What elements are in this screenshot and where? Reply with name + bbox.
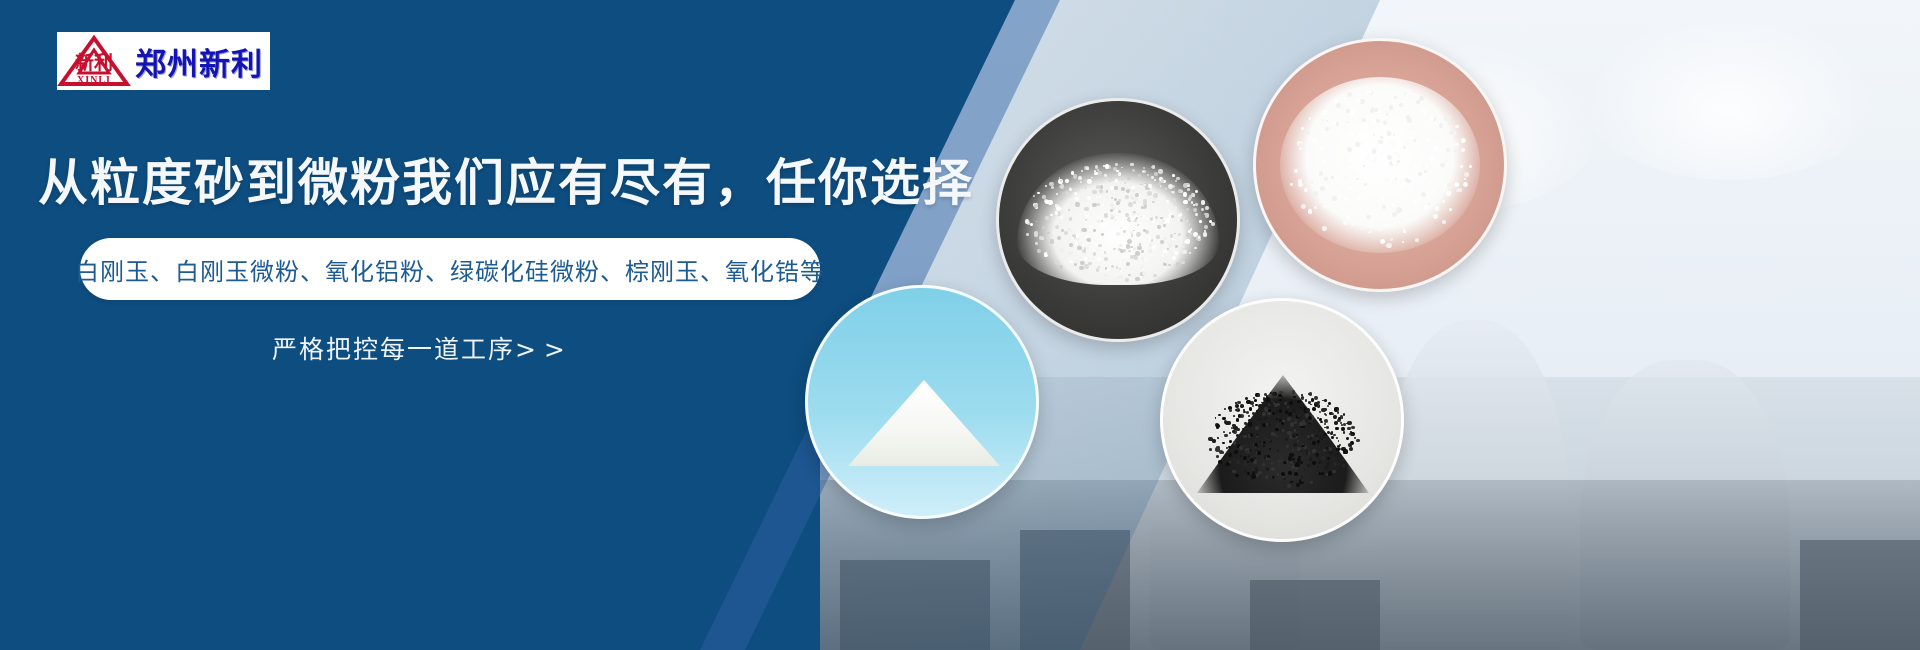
grit-speckle: [1118, 275, 1122, 279]
product-list-text: 白刚玉、白刚玉微粉、氧化铝粉、绿碳化硅微粉、棕刚玉、氧化锆等: [75, 252, 825, 287]
grit-speckle: [1098, 244, 1101, 247]
grit-speckle: [1338, 440, 1340, 442]
grit-speckle: [1376, 203, 1379, 206]
grit-speckle: [1312, 407, 1316, 411]
grit-speckle: [1115, 173, 1118, 176]
grit-speckle: [1123, 249, 1126, 252]
grit-speckle: [1217, 437, 1219, 439]
grit-speckle: [1209, 448, 1212, 451]
grit-speckle: [1121, 221, 1125, 225]
grit-speckle: [1347, 147, 1352, 152]
grit-speckle: [1114, 186, 1118, 190]
grit-speckle: [1377, 88, 1381, 92]
grit-speckle: [1309, 117, 1311, 119]
grit-speckle: [1047, 232, 1049, 234]
grit-speckle: [1327, 457, 1330, 460]
grit-speckle: [1189, 195, 1193, 199]
grit-speckle: [1299, 422, 1303, 426]
grit-speckle: [1258, 459, 1260, 461]
grit-speckle: [1323, 449, 1326, 452]
grit-speckle: [1060, 216, 1063, 219]
grit-speckle: [1351, 222, 1355, 226]
grit-speckle: [1406, 115, 1411, 120]
grit-speckle: [1144, 184, 1146, 186]
grit-speckle: [1446, 191, 1451, 196]
grit-speckle: [1309, 437, 1312, 440]
grit-speckle: [1068, 251, 1072, 255]
grit-speckle: [1400, 182, 1402, 184]
grit-speckle: [1328, 471, 1332, 475]
grit-speckle: [1204, 230, 1206, 232]
grit-speckle: [1324, 466, 1328, 470]
grit-speckle: [1351, 426, 1355, 430]
grit-speckle: [1059, 248, 1063, 252]
grit-speckle: [1455, 125, 1458, 128]
grit-speckle: [1326, 120, 1328, 122]
company-logo[interactable]: 新利 XINLI 郑州新利: [57, 32, 270, 90]
grit-speckle: [1455, 142, 1459, 146]
grit-speckle: [1316, 435, 1318, 437]
grit-speckle: [1302, 408, 1304, 410]
product-photo-micro-powder: [1253, 38, 1507, 292]
grit-speckle: [1331, 436, 1335, 440]
grit-speckle: [1084, 264, 1089, 269]
grit-speckle: [1364, 183, 1367, 186]
grit-speckle: [1154, 245, 1156, 247]
grit-speckle: [1320, 421, 1323, 424]
grit-speckle: [1248, 415, 1250, 417]
grit-speckle: [1158, 169, 1163, 174]
grit-speckle: [1302, 445, 1305, 448]
product-photo-black-sic: [1160, 298, 1404, 542]
grit-speckle: [1191, 201, 1193, 203]
grit-speckle: [1398, 171, 1400, 173]
grit-speckle: [1154, 179, 1156, 181]
grit-speckle: [1203, 232, 1207, 236]
grit-speckle: [1234, 450, 1238, 454]
grit-speckle: [1135, 251, 1140, 256]
grit-speckle: [1140, 216, 1142, 218]
grit-speckle: [1042, 226, 1044, 228]
grit-speckle: [1198, 236, 1200, 238]
grit-speckle: [1157, 225, 1161, 229]
grit-speckle: [1309, 392, 1312, 395]
grit-speckle: [1365, 124, 1368, 127]
grit-speckle: [1080, 261, 1084, 265]
grit-speckle: [1428, 203, 1430, 205]
grit-speckle: [1326, 462, 1330, 466]
grit-speckle: [1175, 245, 1178, 248]
grit-speckle: [1347, 92, 1352, 97]
grit-speckle: [1343, 220, 1348, 225]
grit-speckle: [1424, 188, 1428, 192]
grit-speckle: [1101, 220, 1103, 222]
grit-speckle: [1292, 390, 1296, 394]
grit-speckle: [1392, 87, 1396, 91]
grit-speckle: [1228, 446, 1230, 448]
grit-speckle: [1461, 138, 1466, 143]
grit-speckle: [1311, 181, 1313, 183]
grit-speckle: [1072, 237, 1074, 239]
grit-speckle: [1412, 191, 1415, 194]
grit-speckle: [1246, 400, 1250, 404]
grit-speckle: [1387, 155, 1392, 160]
grit-speckle: [1135, 277, 1139, 281]
grit-speckle: [1349, 433, 1351, 435]
product-photo-alumina: [805, 285, 1039, 519]
grit-speckle: [1395, 152, 1398, 155]
grit-speckle: [1347, 202, 1350, 205]
building: [1250, 580, 1380, 650]
grit-speckle: [1356, 98, 1359, 101]
grit-speckle: [1097, 249, 1099, 251]
grit-speckle: [1336, 122, 1340, 126]
grit-speckle: [1087, 179, 1092, 184]
grit-speckle: [1452, 140, 1454, 142]
grit-speckle: [1392, 160, 1397, 165]
grit-speckle: [1097, 171, 1102, 176]
grit-speckle: [1076, 234, 1079, 237]
grit-speckle: [1355, 142, 1360, 147]
grit-speckle: [1322, 456, 1326, 460]
grit-speckle: [1337, 411, 1340, 414]
grit-speckle: [1172, 238, 1174, 240]
grit-speckle: [1216, 455, 1219, 458]
grit-speckle: [1088, 262, 1091, 265]
grit-speckle: [1361, 133, 1363, 135]
grit-speckle: [1433, 214, 1438, 219]
grit-speckle: [1367, 229, 1369, 231]
grit-speckle: [1186, 233, 1190, 237]
grit-speckle: [1271, 400, 1273, 402]
grit-speckle: [1093, 229, 1095, 231]
grit-speckle: [1294, 169, 1298, 173]
grit-speckle: [1271, 462, 1274, 465]
grit-speckle: [1047, 250, 1051, 254]
grit-speckle: [1317, 401, 1320, 404]
grit-speckle: [1259, 441, 1261, 443]
grit-speckle: [1271, 481, 1274, 484]
grit-speckle: [1319, 171, 1324, 176]
grit-speckle: [1396, 207, 1401, 212]
grit-speckle: [1276, 432, 1279, 435]
grit-speckle: [1311, 398, 1315, 402]
grit-speckle: [1101, 223, 1105, 227]
grit-speckle: [1374, 108, 1378, 112]
grit-speckle: [1116, 170, 1118, 172]
grit-speckle: [1244, 422, 1246, 424]
grit-speckle: [1152, 165, 1156, 169]
grit-speckle: [1288, 471, 1292, 475]
grit-speckle: [1099, 196, 1101, 198]
grit-speckle: [1294, 421, 1297, 424]
grit-speckle: [1440, 163, 1444, 167]
grit-speckle: [1293, 443, 1297, 447]
grit-speckle: [1074, 263, 1077, 266]
product-photo-white-grit: [996, 98, 1240, 342]
grit-speckle: [1136, 232, 1141, 237]
grit-speckle: [1308, 401, 1311, 404]
grit-speckle: [1310, 404, 1312, 406]
grit-speckle: [1347, 421, 1351, 425]
grit-speckle: [1163, 224, 1166, 227]
grit-speckle: [1421, 118, 1423, 120]
grit-speckle: [1306, 456, 1309, 459]
grit-speckle: [1267, 455, 1270, 458]
grit-speckle: [1070, 202, 1073, 205]
grit-speckle: [1240, 404, 1244, 408]
grit-speckle: [1356, 439, 1360, 443]
grit-speckle: [1042, 195, 1046, 199]
grit-speckle: [1307, 464, 1310, 467]
grit-speckle: [1104, 257, 1108, 261]
grit-speckle: [1122, 176, 1124, 178]
grit-speckle: [1095, 165, 1098, 168]
logo-mark-latin: XINLI: [57, 75, 131, 86]
grit-speckle: [1315, 454, 1317, 456]
grit-speckle: [1324, 399, 1327, 402]
logo-triangle-icon: 新利 XINLI: [57, 33, 131, 89]
grit-speckle: [1229, 409, 1232, 412]
grit-speckle: [1346, 437, 1349, 440]
grit-speckle: [1420, 112, 1422, 114]
grit-speckle: [1256, 438, 1258, 440]
grit-speckle: [1218, 414, 1220, 416]
grit-speckle: [1174, 251, 1178, 255]
grit-speckle: [1364, 143, 1366, 145]
grit-speckle: [1372, 158, 1377, 163]
grit-speckle: [1183, 216, 1185, 218]
cta-link[interactable]: 严格把控每一道工序> >: [272, 330, 565, 366]
grit-speckle: [1155, 216, 1158, 219]
grit-speckle: [1039, 236, 1043, 240]
grit-speckle: [1447, 183, 1452, 188]
grit-speckle: [1233, 458, 1235, 460]
grit-speckle: [1434, 146, 1438, 150]
grit-speckle: [1050, 239, 1054, 243]
grit-speckle: [1271, 467, 1275, 471]
grit-speckle: [1372, 149, 1376, 153]
grit-speckle: [1118, 210, 1121, 213]
grit-speckle: [1323, 453, 1325, 455]
grit-speckle: [1085, 221, 1087, 223]
grit-speckle: [1170, 240, 1172, 242]
grit-speckle: [1062, 192, 1066, 196]
grit-speckle: [1444, 159, 1447, 162]
grit-speckle: [1456, 189, 1459, 192]
grit-speckle: [1064, 231, 1068, 235]
grit-speckle: [1136, 217, 1138, 219]
micro-powder-heap: [1280, 77, 1480, 253]
grit-speckle: [1328, 402, 1331, 405]
grit-speckle: [1314, 206, 1317, 209]
grit-speckle: [1104, 251, 1107, 254]
grit-speckle: [1248, 419, 1251, 422]
grit-speckle: [1156, 235, 1160, 239]
grit-speckle: [1131, 234, 1133, 236]
grit-speckle: [1106, 190, 1109, 193]
grit-speckle: [1264, 437, 1266, 439]
smoke-plume: [1580, 10, 1880, 180]
building: [1800, 540, 1920, 650]
grit-speckle: [1121, 187, 1125, 191]
grit-speckle: [1333, 462, 1337, 466]
grit-speckle: [1215, 417, 1217, 419]
grit-speckle: [1314, 396, 1318, 400]
grit-speckle: [1334, 99, 1338, 103]
grit-speckle: [1216, 424, 1220, 428]
grit-speckle: [1380, 239, 1385, 244]
grit-speckle: [1240, 436, 1242, 438]
grit-speckle: [1222, 417, 1225, 420]
grit-speckle: [1223, 465, 1226, 468]
grit-speckle: [1249, 407, 1252, 410]
grit-speckle: [1415, 238, 1419, 242]
grit-speckle: [1312, 449, 1315, 452]
grit-speckle: [1344, 98, 1346, 100]
grit-speckle: [1147, 191, 1152, 196]
grit-speckle: [1126, 244, 1131, 249]
grit-speckle: [1436, 111, 1439, 114]
grit-speckle: [1055, 260, 1059, 264]
grit-speckle: [1116, 232, 1120, 236]
grit-speckle: [1075, 197, 1079, 201]
grit-speckle: [1366, 215, 1371, 220]
grit-speckle: [1257, 417, 1261, 421]
grit-speckle: [1151, 176, 1154, 179]
grit-speckle: [1297, 447, 1301, 451]
grit-speckle: [1233, 415, 1235, 417]
grit-speckle: [1334, 421, 1338, 425]
cta-arrows: > >: [515, 335, 565, 364]
grit-speckle: [1321, 408, 1325, 412]
grit-speckle: [1432, 126, 1434, 128]
grit-speckle: [1429, 156, 1434, 161]
grit-speckle: [1087, 247, 1089, 249]
grit-speckle: [1089, 225, 1091, 227]
grit-speckle: [1344, 198, 1347, 201]
grit-speckle: [1056, 246, 1058, 248]
grit-speckle: [1449, 208, 1452, 211]
grit-speckle: [1105, 267, 1107, 269]
grit-speckle: [1362, 118, 1366, 122]
grit-speckle: [1187, 188, 1190, 191]
grit-speckle: [1073, 188, 1076, 191]
grit-speckle: [1097, 203, 1100, 206]
grit-speckle: [1170, 234, 1173, 237]
grit-speckle: [1423, 175, 1426, 178]
grit-speckle: [1338, 417, 1341, 420]
grit-speckle: [1242, 444, 1245, 447]
grit-speckle: [1104, 174, 1106, 176]
grit-speckle: [1272, 476, 1274, 478]
product-list-pill: 白刚玉、白刚玉微粉、氧化铝粉、绿碳化硅微粉、棕刚玉、氧化锆等: [80, 238, 820, 300]
grit-speckle: [1263, 445, 1265, 447]
grit-speckle: [1409, 205, 1413, 209]
grit-speckle: [1060, 209, 1063, 212]
grit-speckle: [1332, 196, 1337, 201]
grit-speckle: [1156, 183, 1161, 188]
grit-speckle: [1108, 178, 1112, 182]
grit-speckle: [1283, 476, 1285, 478]
grit-speckle: [1335, 427, 1338, 430]
grit-speckle: [1148, 249, 1152, 253]
grit-speckle: [1464, 172, 1469, 177]
grit-speckle: [1176, 177, 1179, 180]
grit-speckle: [1055, 211, 1058, 214]
grit-speckle: [1361, 228, 1363, 230]
grit-speckle: [1403, 146, 1406, 149]
grit-speckle: [1163, 250, 1166, 253]
grit-speckle: [1171, 191, 1173, 193]
grit-speckle: [1301, 204, 1306, 209]
grit-speckle: [1321, 472, 1324, 475]
logo-company-name: 郑州新利: [135, 39, 263, 84]
grit-speckle: [1059, 186, 1061, 188]
grit-speckle: [1386, 243, 1391, 248]
grit-speckle: [1150, 217, 1154, 221]
grit-speckle: [1163, 237, 1167, 241]
grit-speckle: [1322, 226, 1326, 230]
grit-speckle: [1444, 115, 1449, 120]
grit-speckle: [1076, 238, 1079, 241]
grit-speckle: [1322, 107, 1324, 109]
grit-speckle: [1390, 141, 1395, 146]
grit-speckle: [1301, 127, 1304, 130]
grit-speckle: [1025, 219, 1029, 223]
grit-speckle: [1133, 211, 1135, 213]
grit-speckle: [1320, 436, 1324, 440]
headline: 从粒度砂到微粉我们应有尽有，任你选择: [38, 143, 974, 215]
grit-speckle: [1276, 423, 1280, 427]
grit-speckle: [1348, 158, 1352, 162]
grit-speckle: [1132, 190, 1135, 193]
logo-mark-cn: 新利: [64, 51, 124, 75]
grit-speckle: [1087, 238, 1091, 242]
grit-speckle: [1308, 209, 1313, 214]
grit-speckle: [1414, 135, 1418, 139]
grit-speckle: [1224, 434, 1227, 437]
grit-speckle: [1162, 195, 1164, 197]
grit-speckle: [1337, 408, 1339, 410]
grit-speckle: [1281, 472, 1285, 476]
grit-speckle: [1233, 441, 1237, 445]
grit-speckle: [1319, 418, 1322, 421]
grit-speckle: [1272, 412, 1275, 415]
grit-speckle: [1310, 457, 1312, 459]
grit-speckle: [1168, 264, 1171, 267]
grit-speckle: [1341, 427, 1345, 431]
grit-speckle: [1143, 215, 1145, 217]
grit-speckle: [1413, 200, 1417, 204]
grit-speckle: [1283, 457, 1286, 460]
grit-speckle: [1274, 403, 1277, 406]
grit-speckle: [1084, 207, 1088, 211]
grit-speckle: [1463, 182, 1468, 187]
grit-speckle: [1195, 213, 1198, 216]
grit-speckle: [1243, 462, 1247, 466]
grit-speckle: [1401, 186, 1404, 189]
grit-speckle: [1357, 196, 1361, 200]
grit-speckle: [1333, 415, 1337, 419]
grit-speckle: [1290, 481, 1293, 484]
grit-speckle: [1341, 105, 1346, 110]
grit-speckle: [1424, 205, 1428, 209]
grit-speckle: [1247, 472, 1250, 475]
grit-speckle: [1392, 180, 1396, 184]
grit-speckle: [1348, 166, 1350, 168]
grit-speckle: [1336, 448, 1340, 452]
